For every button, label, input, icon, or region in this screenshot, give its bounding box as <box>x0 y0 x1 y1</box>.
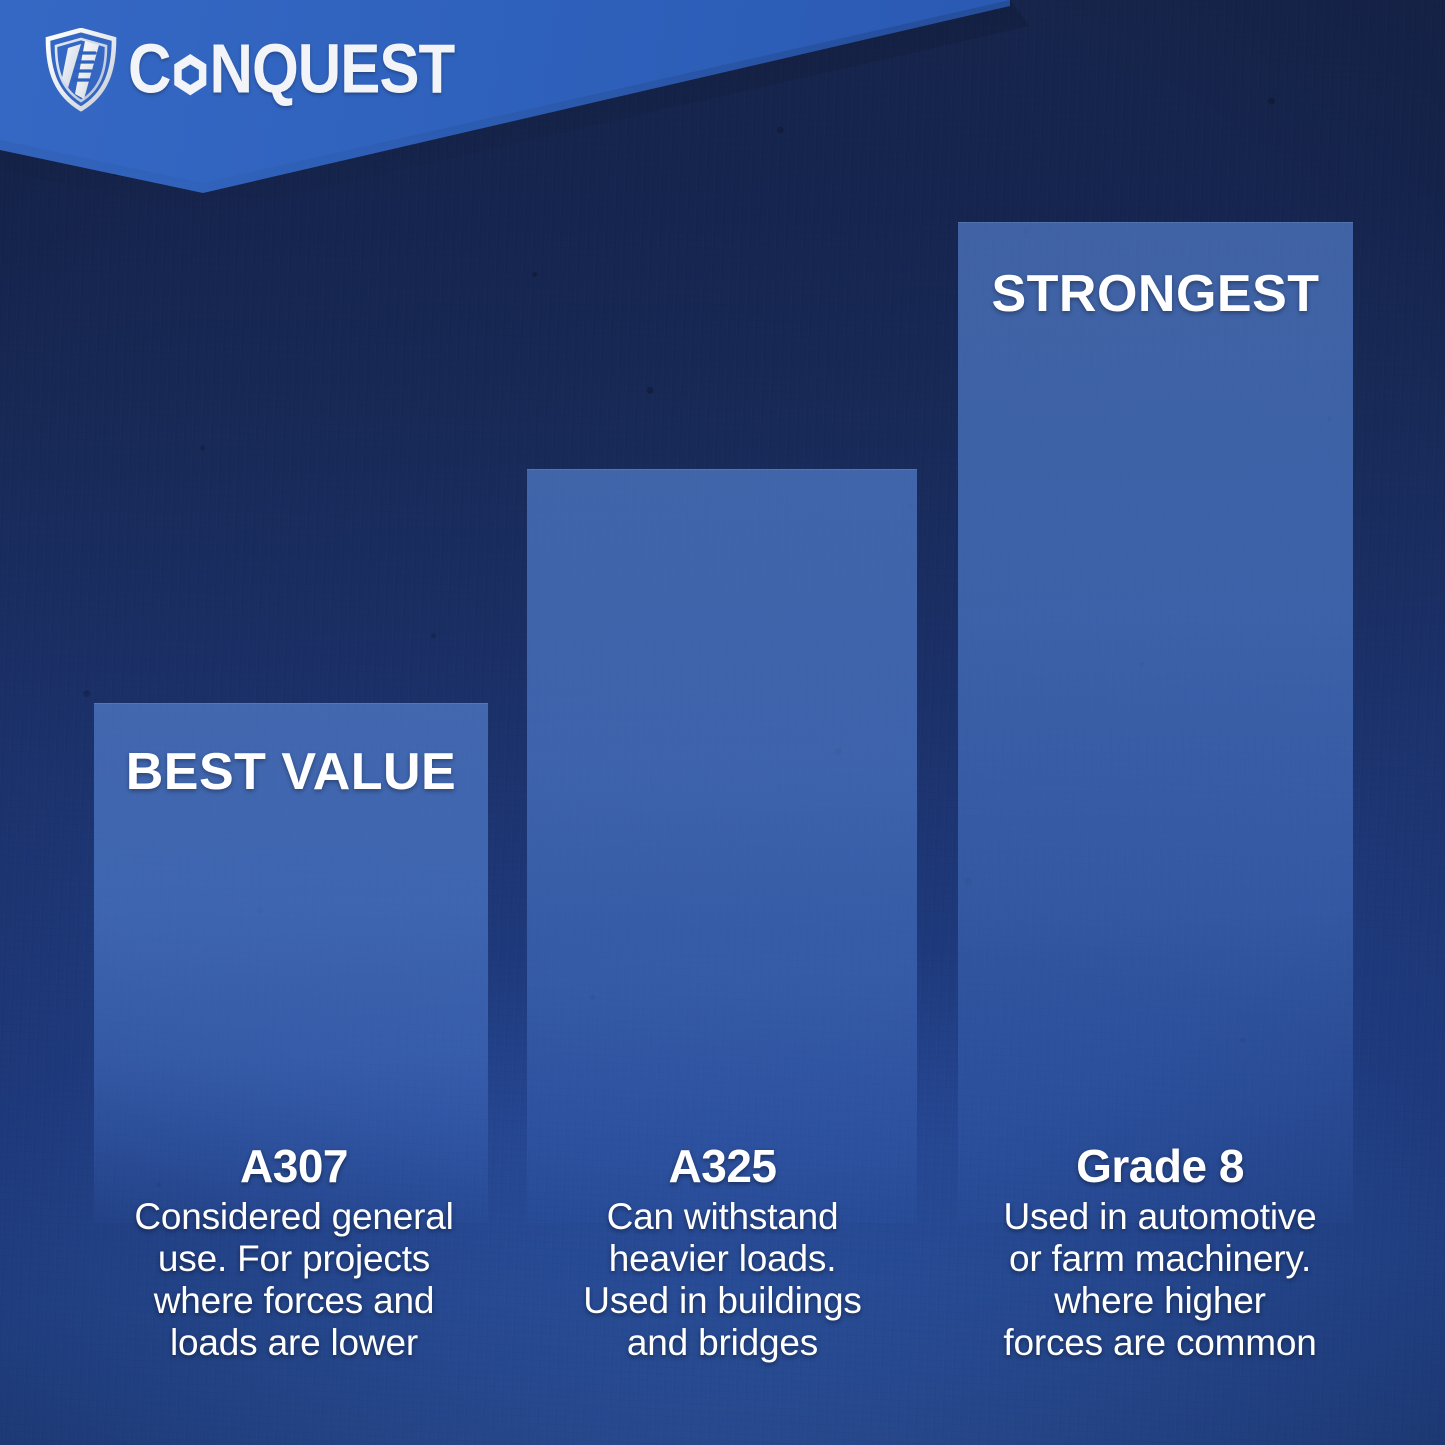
bar-badge-best-value: BEST VALUE <box>94 742 488 802</box>
infographic-canvas: BEST VALUE STRONGEST A307 Considered gen… <box>0 0 1445 1445</box>
caption-line: Can withstand <box>540 1196 905 1238</box>
caption-line: and bridges <box>540 1322 905 1364</box>
caption-line: loads are lower <box>84 1322 504 1364</box>
bar-grade-8 <box>958 222 1353 1223</box>
column-title-grade-8: Grade 8 <box>960 1143 1360 1190</box>
caption-line: forces are common <box>960 1322 1360 1364</box>
caption-line: Considered general <box>84 1196 504 1238</box>
caption-line: where forces and <box>84 1280 504 1322</box>
hex-nut-icon <box>171 48 208 91</box>
column-description-a307: Considered general use. For projects whe… <box>84 1196 504 1365</box>
caption-line: or farm machinery. <box>960 1238 1360 1280</box>
column-caption-a307: A307 Considered general use. For project… <box>84 1143 504 1365</box>
shield-bolt-icon <box>44 28 118 112</box>
wordmark-part-nquest: NQUEST <box>210 35 455 104</box>
bar-badge-strongest: STRONGEST <box>958 264 1353 324</box>
caption-line: Used in buildings <box>540 1280 905 1322</box>
column-description-grade-8: Used in automotive or farm machinery. wh… <box>960 1196 1360 1365</box>
caption-line: Used in automotive <box>960 1196 1360 1238</box>
column-title-a307: A307 <box>84 1143 504 1190</box>
brand-wordmark: C NQUEST <box>128 35 454 104</box>
column-title-a325: A325 <box>540 1143 905 1190</box>
column-description-a325: Can withstand heavier loads. Used in bui… <box>540 1196 905 1365</box>
caption-line: where higher <box>960 1280 1360 1322</box>
column-caption-grade-8: Grade 8 Used in automotive or farm machi… <box>960 1143 1360 1365</box>
bar-a325 <box>527 469 917 1223</box>
brand-logo[interactable]: C NQUEST <box>44 28 464 112</box>
column-caption-a325: A325 Can withstand heavier loads. Used i… <box>540 1143 905 1365</box>
wordmark-part-c: C <box>128 35 170 104</box>
caption-line: heavier loads. <box>540 1238 905 1280</box>
caption-line: use. For projects <box>84 1238 504 1280</box>
